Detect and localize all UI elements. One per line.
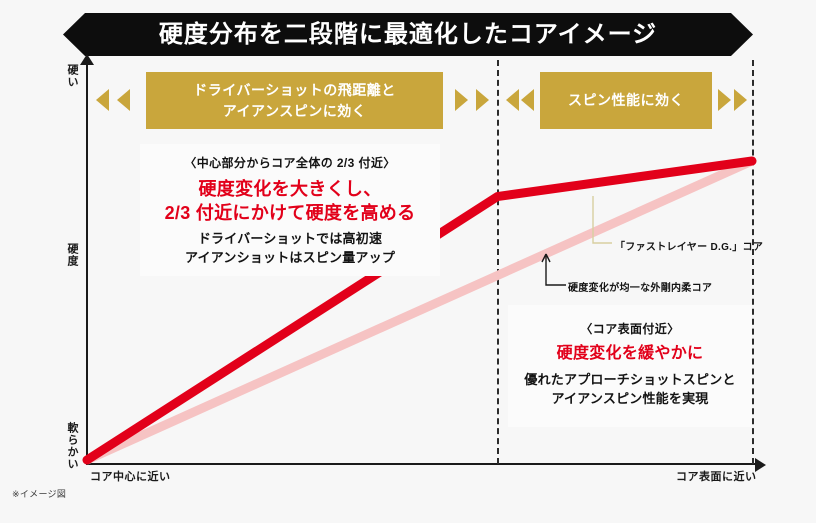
- gold-banner-right: スピン性能に効く: [540, 72, 712, 129]
- page-title: 硬度分布を二段階に最適化したコアイメージ: [159, 23, 657, 47]
- callout-right-red-line1: 硬度変化を緩やかに: [508, 343, 752, 365]
- callout-right-heading: 〈コア表面付近〉: [508, 320, 752, 337]
- arrow-right-inner-icon-2: [718, 89, 731, 111]
- divider-middle: [497, 60, 499, 464]
- arrow-left-outer-icon-2: [506, 89, 519, 111]
- arrow-left-inner-icon-2: [521, 89, 534, 111]
- chart-root: 硬度分布を二段階に最適化したコアイメージ 硬い 硬度 軟らかい コア中心に近い …: [0, 0, 816, 523]
- leader-line-even-core: [546, 254, 566, 285]
- y-axis-label-middle: 硬度: [66, 243, 77, 267]
- leader-arrow-even-core-icon: [542, 254, 550, 262]
- arrow-left-outer-icon: [96, 89, 109, 111]
- callout-left-red-line2: 2/3 付近にかけて硬度を高める: [165, 203, 416, 223]
- callout-left-heading: 〈中心部分からコア全体の 2/3 付近〉: [140, 154, 440, 171]
- callout-right: 〈コア表面付近〉 硬度変化を緩やかに 優れたアプローチショットスピンと アイアン…: [508, 305, 752, 427]
- gold-banner-right-line1: スピン性能に効く: [568, 90, 684, 110]
- arrow-right-outer-icon-2: [734, 89, 747, 111]
- arrow-right-inner-icon: [455, 89, 468, 111]
- gold-banner-left: ドライバーショットの飛距離と アイアンスピンに効く: [146, 72, 443, 129]
- footnote: ※イメージ図: [12, 487, 66, 500]
- x-axis-arrow-icon: [755, 458, 766, 472]
- annotation-even-core: 硬度変化が均一な外剛内柔コア: [568, 279, 712, 294]
- callout-right-body-line2: アイアンスピン性能を実現: [552, 391, 709, 406]
- gold-banner-left-line2: アイアンスピンに効く: [223, 103, 366, 119]
- x-axis-label-left: コア中心に近い: [90, 468, 171, 484]
- gold-banner-left-line1: ドライバーショットの飛距離と: [193, 82, 395, 98]
- y-axis-label-top: 硬い: [66, 64, 77, 88]
- y-axis-arrow-icon: [80, 54, 94, 65]
- annotation-fast-layer: 「ファストレイヤー D.G.」コア: [615, 238, 763, 253]
- callout-left-red-line1: 硬度変化を大きくし、: [199, 179, 382, 199]
- callout-left-body-line1: ドライバーショットでは高初速: [198, 231, 382, 246]
- callout-left: 〈中心部分からコア全体の 2/3 付近〉 硬度変化を大きくし、 2/3 付近にか…: [140, 144, 440, 276]
- callout-right-body-line1: 優れたアプローチショットスピンと: [524, 372, 735, 387]
- title-banner: 硬度分布を二段階に最適化したコアイメージ: [63, 13, 753, 56]
- arrow-left-inner-icon: [117, 89, 130, 111]
- arrow-right-outer-icon: [476, 89, 489, 111]
- y-axis-line: [86, 62, 88, 464]
- divider-right: [752, 60, 754, 464]
- x-axis-line: [86, 463, 758, 465]
- callout-left-body-line2: アイアンショットはスピン量アップ: [185, 250, 395, 265]
- leader-line-fast-layer: [593, 196, 612, 243]
- x-axis-label-right: コア表面に近い: [676, 468, 757, 484]
- y-axis-label-bottom: 軟らかい: [66, 422, 77, 470]
